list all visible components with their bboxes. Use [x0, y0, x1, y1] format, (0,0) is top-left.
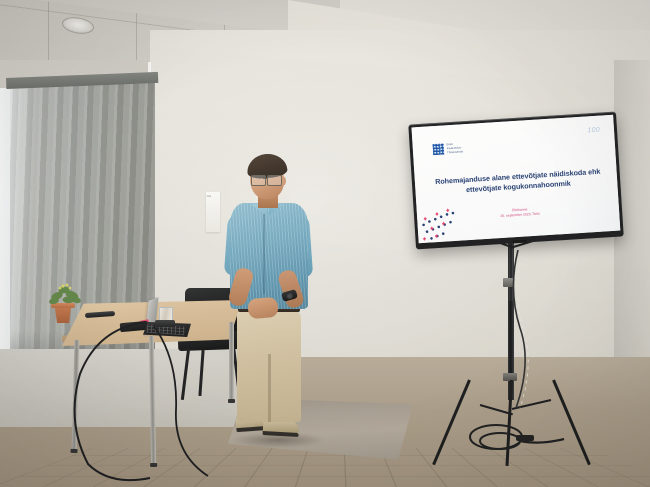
- slide-decoration-dots: [416, 195, 485, 243]
- presenter-shirt-placket: [263, 214, 265, 294]
- slide-title: Rohemajanduse alane ettevõtjate näidisko…: [433, 167, 604, 198]
- eyeglasses-bridge: [263, 178, 268, 179]
- slide-anniversary-logo: 100: [587, 127, 600, 135]
- presenter-hands: [247, 297, 279, 320]
- slide-logo-text: Eesti Kaubandus- Tööstuskoda: [447, 142, 464, 154]
- eyeglasses-lens-right: [267, 175, 282, 186]
- conference-room-photo: A4 Eesti Kaubandus- Tööstuskoda: [0, 0, 650, 487]
- presenter[interactable]: [218, 158, 328, 448]
- potted-plant-icon: [48, 279, 82, 307]
- presentation-slide: Eesti Kaubandus- Tööstuskoda 100 Rohemaj…: [411, 115, 620, 243]
- tv-screen[interactable]: Eesti Kaubandus- Tööstuskoda 100 Rohemaj…: [411, 115, 620, 243]
- presenter-trouser-seam: [268, 354, 271, 422]
- desk-power-cable: [58, 314, 228, 484]
- slide-organization-logo: Eesti Kaubandus- Tööstuskoda: [433, 142, 464, 155]
- chamber-logo-icon: [433, 144, 445, 156]
- tripod-power-cable: [498, 250, 538, 410]
- floor-cable-coil: [460, 405, 570, 465]
- eyeglasses-lens-left: [251, 175, 266, 186]
- television-display[interactable]: Eesti Kaubandus- Tööstuskoda 100 Rohemaj…: [408, 112, 623, 250]
